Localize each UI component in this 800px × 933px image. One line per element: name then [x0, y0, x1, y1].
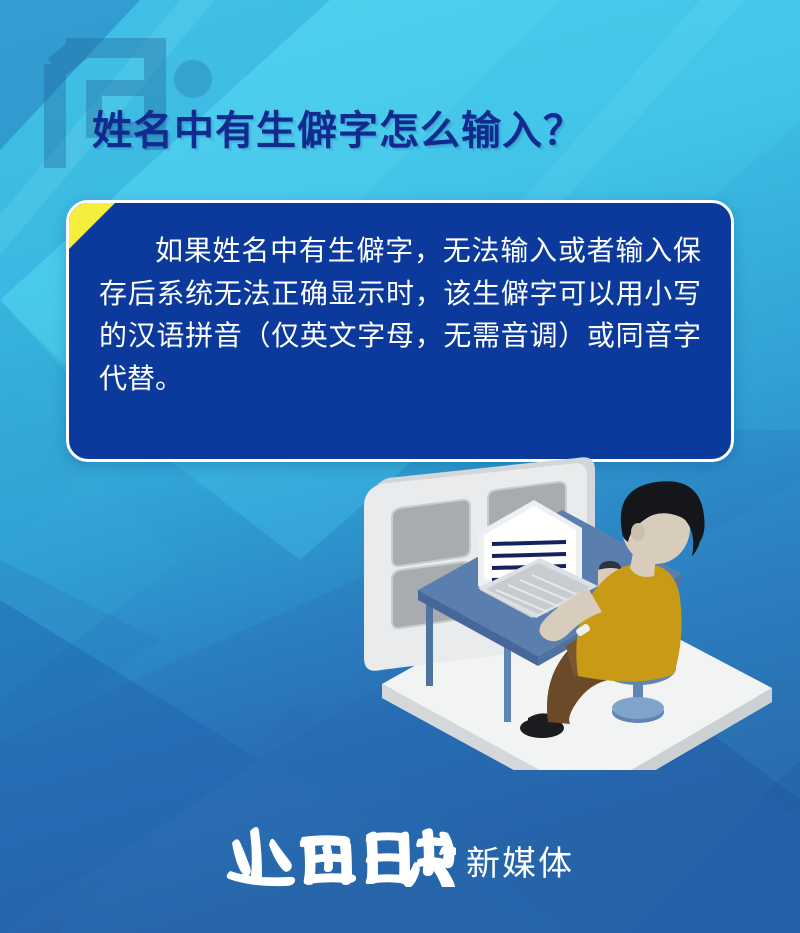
answer-text: 如果姓名中有生僻字，无法输入或者输入保存后系统无法正确显示时，该生僻字可以用小写… [69, 203, 731, 401]
workspace-illustration [352, 440, 792, 770]
shanxi-daily-brand-logo: 山西日报 [226, 825, 456, 887]
brand-sub-label: 新媒体 [466, 847, 574, 887]
footer-logo: 山西日报 [0, 825, 800, 887]
answer-card: 如果姓名中有生僻字，无法输入或者输入保存后系统无法正确显示时，该生僻字可以用小写… [66, 200, 734, 462]
page-title: 姓名中有生僻字怎么输入？ [92, 98, 584, 156]
poster-root: 姓名中有生僻字怎么输入？ 如果姓名中有生僻字，无法输入或者输入保存后系统无法正确… [0, 0, 800, 933]
